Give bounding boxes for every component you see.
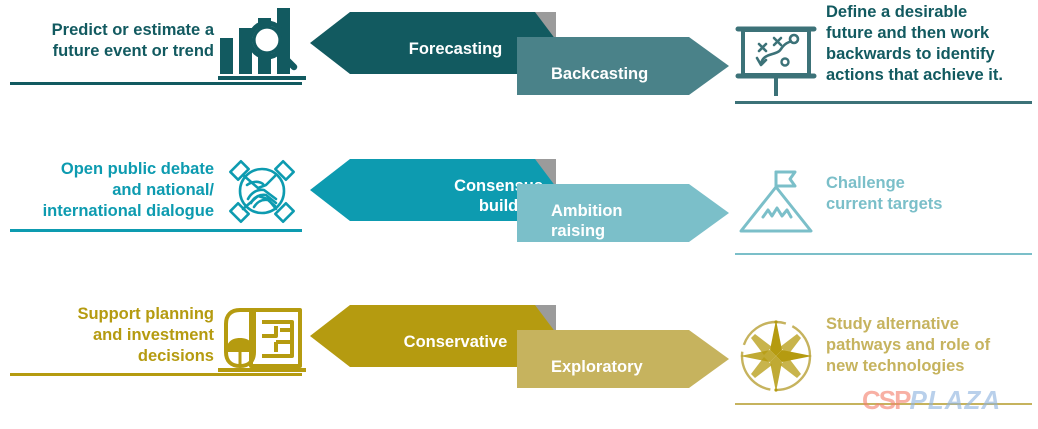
left-description-2: Support planning and investment decision… <box>0 304 214 367</box>
left-description-line: Open public debate <box>0 159 214 180</box>
arrow-ambition-raising[interactable]: Ambition raising <box>517 184 729 242</box>
left-description-line: future event or trend <box>0 41 214 62</box>
right-description-line: pathways and role of <box>826 335 1036 356</box>
right-baseline-rule <box>735 101 1032 104</box>
right-baseline-rule <box>735 253 1032 255</box>
left-description-1: Open public debate and national/ interna… <box>0 159 214 222</box>
left-description-line: international dialogue <box>0 201 214 222</box>
bar-chart-magnifier-icon <box>218 6 306 82</box>
left-baseline-rule <box>10 229 302 232</box>
compass-rose-icon <box>733 316 819 396</box>
right-description-line: Define a desirable <box>826 2 1036 23</box>
right-description-2: Study alternative pathways and role of n… <box>826 314 1036 377</box>
arrow-ambition-raising-label: Ambition raising <box>551 201 696 241</box>
left-description-line: and investment <box>0 325 214 346</box>
left-description-line: Support planning <box>0 304 214 325</box>
row-forecasting-backcasting: Predict or estimate a future event or tr… <box>0 0 1038 143</box>
left-description-line: Predict or estimate a <box>0 20 214 41</box>
left-baseline-rule <box>10 373 302 376</box>
row-conservative-exploratory: Support planning and investment decision… <box>0 286 1038 429</box>
blueprint-icon <box>218 302 306 378</box>
right-description-line: Challenge <box>826 173 1036 194</box>
right-description-line: Study alternative <box>826 314 1036 335</box>
left-description-line: and national/ <box>0 180 214 201</box>
right-description-line: future and then work <box>826 23 1036 44</box>
arrow-backcasting-label: Backcasting <box>551 64 696 84</box>
arrow-label-line: raising <box>551 221 696 241</box>
arrow-exploratory-label: Exploratory <box>551 357 696 377</box>
left-description-line: decisions <box>0 346 214 367</box>
right-description-line: current targets <box>826 194 1036 215</box>
arrow-label-line: Ambition <box>551 201 696 221</box>
right-description-line: backwards to identify <box>826 44 1036 65</box>
right-description-1: Challenge current targets <box>826 173 1036 215</box>
right-baseline-rule <box>735 403 1032 405</box>
arrow-backcasting[interactable]: Backcasting <box>517 37 729 95</box>
right-description-0: Define a desirable future and then work … <box>826 2 1036 86</box>
left-description-0: Predict or estimate a future event or tr… <box>0 20 214 62</box>
right-description-line: new technologies <box>826 356 1036 377</box>
strategy-board-icon <box>733 18 819 98</box>
handshake-icon <box>218 155 306 231</box>
left-baseline-rule <box>10 82 302 85</box>
mountain-flag-icon <box>733 169 819 249</box>
arrow-exploratory[interactable]: Exploratory <box>517 330 729 388</box>
row-consensus-ambition: Open public debate and national/ interna… <box>0 143 1038 286</box>
right-description-line: actions that achieve it. <box>826 65 1036 86</box>
